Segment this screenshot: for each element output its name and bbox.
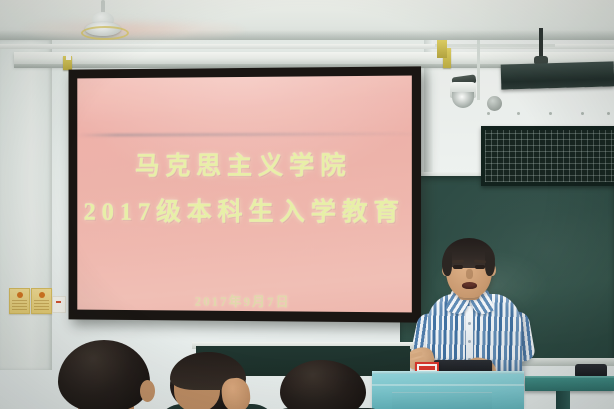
notice-text-lines bbox=[34, 300, 49, 311]
student-3 bbox=[272, 360, 382, 409]
student-1-head bbox=[58, 340, 150, 409]
student-1-ear bbox=[140, 380, 155, 402]
wall-notice-small bbox=[52, 296, 66, 313]
wall-conduit-vertical bbox=[477, 40, 480, 100]
wall-vent-grille-icon bbox=[481, 126, 614, 186]
wall-bracket-yellow bbox=[437, 40, 447, 58]
student-desk-leg bbox=[556, 391, 570, 409]
student-desk bbox=[525, 378, 614, 391]
vent-mesh bbox=[485, 130, 614, 182]
classroom-photo: 马克思主义学院 2017级本科生入学教育 2017年9月7日 bbox=[0, 0, 614, 409]
student-2-hand bbox=[220, 377, 251, 409]
slide-surface: 马克思主义学院 2017级本科生入学教育 2017年9月7日 bbox=[77, 76, 412, 313]
left-wall-column bbox=[0, 40, 52, 370]
notice-accent bbox=[56, 301, 61, 303]
slide-date: 2017年9月7日 bbox=[77, 290, 412, 312]
roller-bracket-tip bbox=[66, 54, 71, 60]
presenter-nose bbox=[466, 269, 473, 279]
ceiling-fan-ring bbox=[81, 26, 129, 40]
projection-screen: 马克思主义学院 2017级本科生入学教育 2017年9月7日 bbox=[69, 66, 422, 322]
wall-conduit-horizontal bbox=[435, 44, 555, 47]
lectern-panel bbox=[392, 392, 492, 409]
presenter-hair-left bbox=[442, 252, 452, 276]
student-3-head bbox=[280, 360, 366, 409]
presenter-hair-right bbox=[485, 252, 495, 276]
slide-title-line-2: 2017级本科生入学教育 bbox=[77, 197, 412, 229]
presenter-eye-left bbox=[453, 265, 463, 269]
wall-dark-bar bbox=[501, 61, 614, 89]
presenter-mouth bbox=[462, 282, 477, 289]
wall-knob bbox=[487, 96, 502, 111]
wall-notice-left bbox=[9, 288, 30, 314]
notice-emblem-icon bbox=[39, 292, 45, 298]
notice-emblem-icon bbox=[17, 292, 23, 298]
presenter-eye-right bbox=[475, 265, 485, 269]
notice-text-lines bbox=[12, 300, 27, 311]
wall-notice-right bbox=[31, 288, 52, 314]
slide-title-line-1: 马克思主义学院 bbox=[77, 150, 412, 183]
student-1 bbox=[44, 340, 162, 409]
screw-row bbox=[487, 112, 612, 116]
student-2 bbox=[160, 352, 270, 409]
slide-title-block: 马克思主义学院 2017级本科生入学教育 bbox=[77, 150, 412, 229]
lectern-ridge bbox=[372, 384, 524, 386]
placard-header-bar bbox=[419, 366, 435, 370]
